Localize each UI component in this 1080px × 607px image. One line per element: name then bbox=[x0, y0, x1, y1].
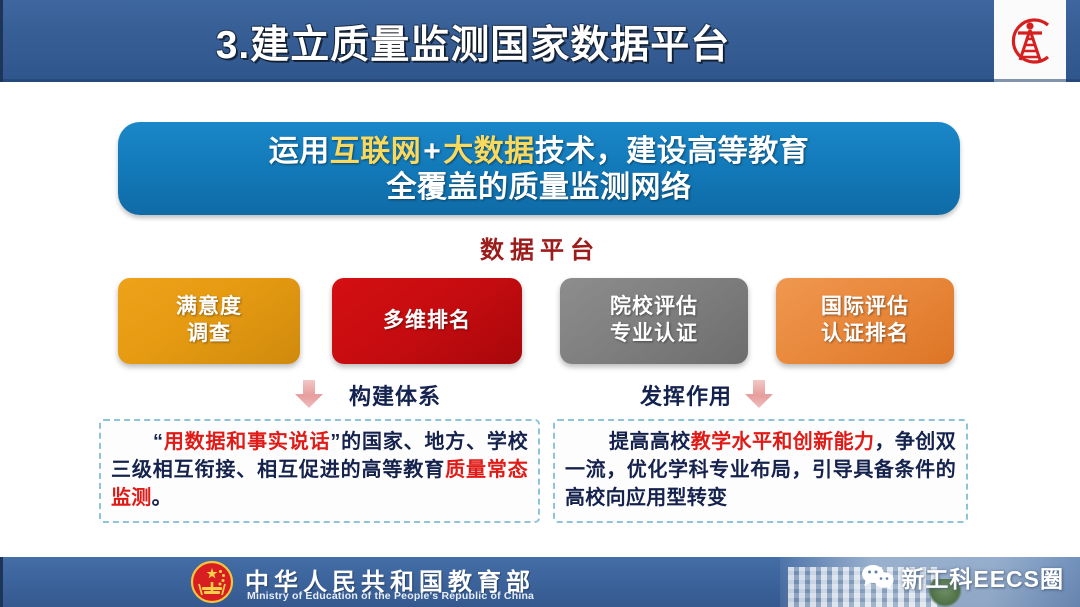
note-right-body-1: 提高高校 bbox=[609, 431, 691, 453]
university-logo-plate bbox=[994, 0, 1066, 82]
category-box-text: 国际评估 认证排名 bbox=[821, 294, 909, 348]
category-box-text: 满意度 调查 bbox=[176, 294, 242, 348]
note-left-text: “用数据和事实说话”的国家、地方、学校三级相互衔接、相互促进的高等教育质量常态监… bbox=[111, 428, 528, 512]
category-line-2: 专业认证 bbox=[610, 321, 698, 348]
note-highlight-teaching-innovation: 教学水平和创新能力 bbox=[691, 431, 875, 453]
tianjin-university-logo-icon bbox=[1003, 11, 1057, 71]
page-title: 3.建立质量监测国家数据平台 bbox=[3, 12, 943, 72]
category-line-1: 多维排名 bbox=[383, 308, 471, 335]
category-line-1: 满意度 bbox=[176, 294, 242, 321]
headline-text-part1: 运用 bbox=[269, 135, 330, 168]
china-national-emblem-icon bbox=[190, 560, 234, 604]
category-box-satisfaction-survey[interactable]: 满意度 调查 bbox=[118, 278, 300, 364]
category-box-multidimensional-ranking[interactable]: 多维排名 bbox=[332, 278, 522, 364]
ministry-name-en: Ministry of Education of the People's Re… bbox=[247, 590, 534, 602]
note-highlight-speak-with-data: 用数据和事实说话 bbox=[163, 431, 330, 453]
mid-connector-row: 构建体系 发挥作用 bbox=[0, 375, 1080, 415]
mid-label-build-system: 构建体系 bbox=[349, 379, 441, 411]
note-box-right: 提高高校教学水平和创新能力，争创双一流，优化学科专业布局，引导具备条件的高校向应… bbox=[553, 419, 968, 523]
mid-label-play-role: 发挥作用 bbox=[640, 379, 732, 411]
headline-line-1: 运用互联网+大数据技术，建设高等教育 bbox=[269, 134, 810, 169]
headline-banner: 运用互联网+大数据技术，建设高等教育 全覆盖的质量监测网络 bbox=[118, 122, 960, 215]
arrow-down-icon bbox=[292, 377, 326, 411]
wechat-icon bbox=[861, 564, 894, 590]
category-box-institution-evaluation[interactable]: 院校评估 专业认证 bbox=[560, 278, 748, 364]
note-left-body-2: 。 bbox=[152, 487, 172, 509]
headline-accent-internet: 互联网 bbox=[330, 135, 422, 168]
headline-plus: + bbox=[421, 135, 443, 168]
note-quote-close: ” bbox=[330, 431, 340, 453]
category-line-1: 国际评估 bbox=[821, 294, 909, 321]
slide-canvas: 3.建立质量监测国家数据平台 运用互联网+大数据技术，建设高等教育 全覆盖的质量… bbox=[0, 0, 1080, 607]
arrow-down-icon bbox=[742, 377, 776, 411]
platform-label: 数据平台 bbox=[0, 230, 1080, 265]
category-line-2: 调查 bbox=[176, 321, 242, 348]
category-box-text: 多维排名 bbox=[383, 308, 471, 335]
note-quote-open: “ bbox=[153, 431, 163, 453]
headline-accent-bigdata: 大数据 bbox=[443, 135, 535, 168]
category-box-text: 院校评估 专业认证 bbox=[610, 294, 698, 348]
watermark: 新工科EECS圈 bbox=[861, 560, 1064, 594]
headline-text-part2: 技术，建设高等教育 bbox=[535, 135, 810, 168]
category-box-row: 满意度 调查 多维排名 院校评估 专业认证 国际评估 认证排名 bbox=[0, 278, 1080, 364]
category-box-international-evaluation[interactable]: 国际评估 认证排名 bbox=[776, 278, 954, 364]
note-box-left: “用数据和事实说话”的国家、地方、学校三级相互衔接、相互促进的高等教育质量常态监… bbox=[99, 419, 540, 523]
watermark-text: 新工科EECS圈 bbox=[901, 560, 1064, 594]
note-right-text: 提高高校教学水平和创新能力，争创双一流，优化学科专业布局，引导具备条件的高校向应… bbox=[565, 428, 956, 512]
slide-title-banner: 3.建立质量监测国家数据平台 bbox=[0, 0, 1080, 82]
category-line-2: 认证排名 bbox=[821, 321, 909, 348]
category-line-1: 院校评估 bbox=[610, 294, 698, 321]
headline-line-2: 全覆盖的质量监测网络 bbox=[387, 170, 692, 205]
